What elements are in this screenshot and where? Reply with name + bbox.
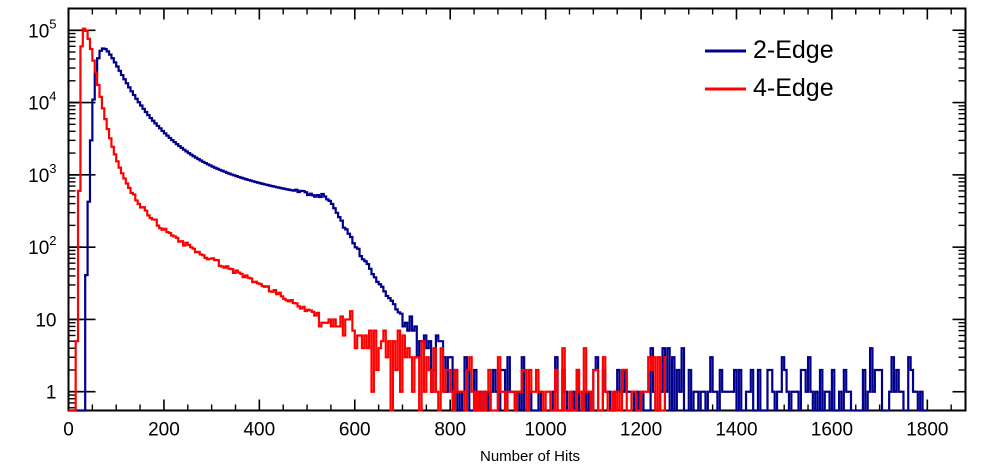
- x-tick-label: 600: [339, 420, 371, 441]
- chart-canvas: 020040060080010001200140016001800 110102…: [0, 0, 996, 472]
- y-tick-label: 1: [46, 383, 57, 404]
- x-tick-label: 200: [148, 420, 180, 441]
- x-tick-label: 1600: [811, 420, 853, 441]
- x-tick-label: 1200: [620, 420, 662, 441]
- x-tick-label: 400: [243, 420, 275, 441]
- x-tick-label: 1000: [524, 420, 566, 441]
- x-axis-title: Number of Hits: [480, 448, 580, 465]
- legend-label-4-edge: 4-Edge: [753, 74, 834, 102]
- x-tick-label: 1800: [906, 420, 948, 441]
- x-tick-label: 800: [434, 420, 466, 441]
- y-tick-label: 10: [35, 310, 56, 331]
- x-tick-label: 0: [63, 420, 74, 441]
- histogram-plot: 020040060080010001200140016001800 110102…: [0, 0, 996, 472]
- x-tick-label: 1400: [715, 420, 757, 441]
- legend-label-2-edge: 2-Edge: [753, 36, 834, 64]
